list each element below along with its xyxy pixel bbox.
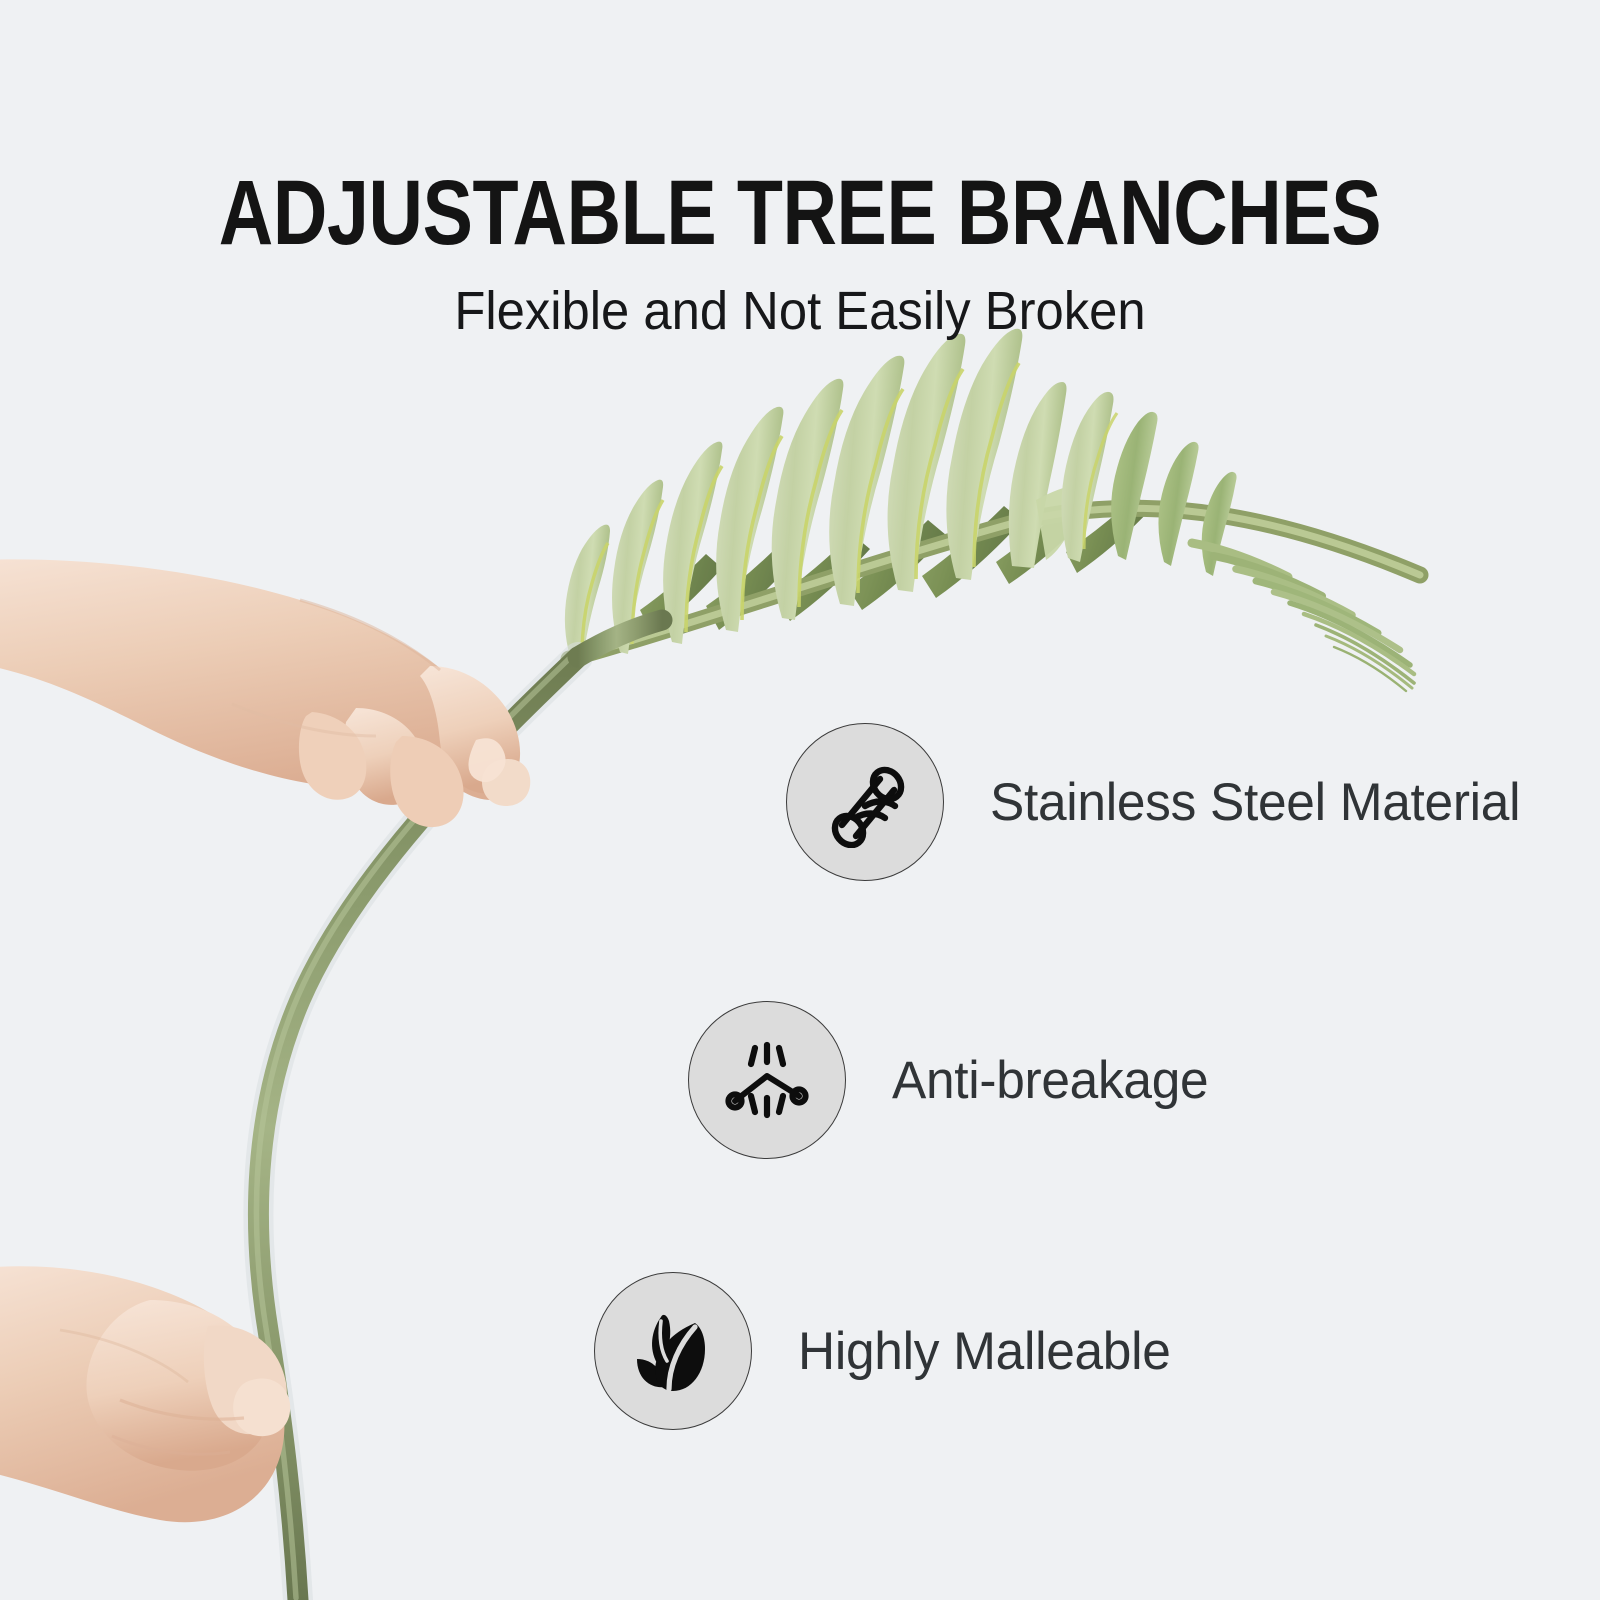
- header: ADJUSTABLE TREE BRANCHES Flexible and No…: [0, 0, 1600, 342]
- infographic-canvas: ADJUSTABLE TREE BRANCHES Flexible and No…: [0, 0, 1600, 1600]
- feature-icon-badge: [594, 1272, 752, 1430]
- feature-icon-badge: [688, 1001, 846, 1159]
- feature-item-anti-breakage: Anti-breakage: [688, 1001, 1218, 1159]
- feature-label: Anti-breakage: [892, 1050, 1208, 1111]
- bent-rod-flex-icon: [721, 1034, 813, 1126]
- feature-item-highly-malleable: Highly Malleable: [594, 1272, 1182, 1430]
- feature-label: Highly Malleable: [798, 1321, 1171, 1382]
- feature-label: Stainless Steel Material: [990, 772, 1520, 833]
- feature-icon-badge: [786, 723, 944, 881]
- page-subtitle: Flexible and Not Easily Broken: [48, 258, 1552, 342]
- feature-item-stainless-steel-material: Stainless Steel Material: [786, 723, 1537, 881]
- rolled-steel-coil-icon: [819, 756, 911, 848]
- page-title: ADJUSTABLE TREE BRANCHES: [144, 0, 1456, 258]
- leaves-icon: [627, 1305, 719, 1397]
